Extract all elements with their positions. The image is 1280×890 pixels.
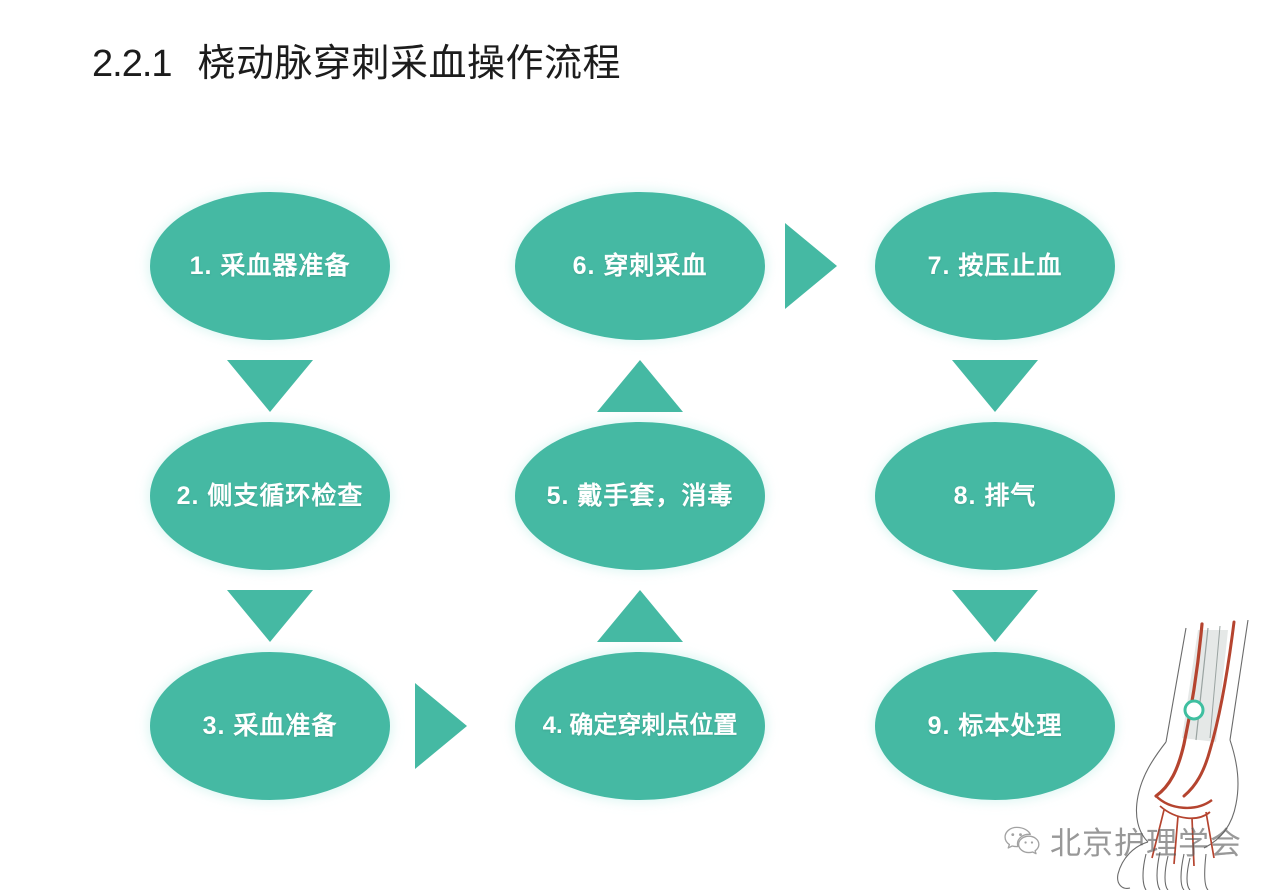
flow-node-label: 5. 戴手套，消毒: [537, 481, 744, 511]
flow-node-label: 7. 按压止血: [918, 251, 1073, 281]
flow-node-label: 4. 确定穿刺点位置: [539, 712, 742, 741]
flow-node-step-7[interactable]: 7. 按压止血: [875, 192, 1115, 340]
wechat-icon: [1003, 825, 1041, 857]
arrow-up-icon-step5-step6: [597, 360, 683, 412]
flow-node-label: 3. 采血准备: [193, 711, 348, 741]
flow-node-label: 1. 采血器准备: [180, 251, 361, 281]
arrow-right-icon-step3-step4: [415, 683, 467, 769]
flow-node-step-6[interactable]: 6. 穿刺采血: [515, 192, 765, 340]
flow-node-step-4[interactable]: 4. 确定穿刺点位置: [515, 652, 765, 800]
page-title-number: 2.2.1: [92, 43, 172, 85]
page-title: 2.2.1桡动脉穿刺采血操作流程: [92, 43, 621, 87]
flow-node-step-8[interactable]: 8. 排气: [875, 422, 1115, 570]
page-title-text: 桡动脉穿刺采血操作流程: [198, 43, 622, 85]
arrow-up-icon-step4-step5: [597, 590, 683, 642]
flow-node-step-9[interactable]: 9. 标本处理: [875, 652, 1115, 800]
arrow-down-icon-step1-step2: [227, 360, 313, 412]
watermark: 北京护理学会: [1003, 818, 1242, 863]
flow-node-label: 8. 排气: [944, 481, 1047, 511]
arrow-down-icon-step2-step3: [227, 590, 313, 642]
arrow-down-icon-step8-step9: [952, 590, 1038, 642]
flow-node-label: 9. 标本处理: [918, 711, 1073, 741]
arrow-right-icon-step6-step7: [785, 223, 837, 309]
flow-node-label: 2. 侧支循环检查: [167, 481, 374, 511]
flow-node-step-2[interactable]: 2. 侧支循环检查: [150, 422, 390, 570]
flow-node-step-3[interactable]: 3. 采血准备: [150, 652, 390, 800]
flow-node-label: 6. 穿刺采血: [563, 251, 718, 281]
puncture-site-marker-icon: [1185, 701, 1203, 719]
watermark-text: 北京护理学会: [1050, 818, 1242, 863]
flow-node-step-5[interactable]: 5. 戴手套，消毒: [515, 422, 765, 570]
arrow-down-icon-step7-step8: [952, 360, 1038, 412]
flow-node-step-1[interactable]: 1. 采血器准备: [150, 192, 390, 340]
slide-canvas: 2.2.1桡动脉穿刺采血操作流程 1. 采血器准备 2. 侧支循环检查 3. 采…: [0, 0, 1280, 890]
